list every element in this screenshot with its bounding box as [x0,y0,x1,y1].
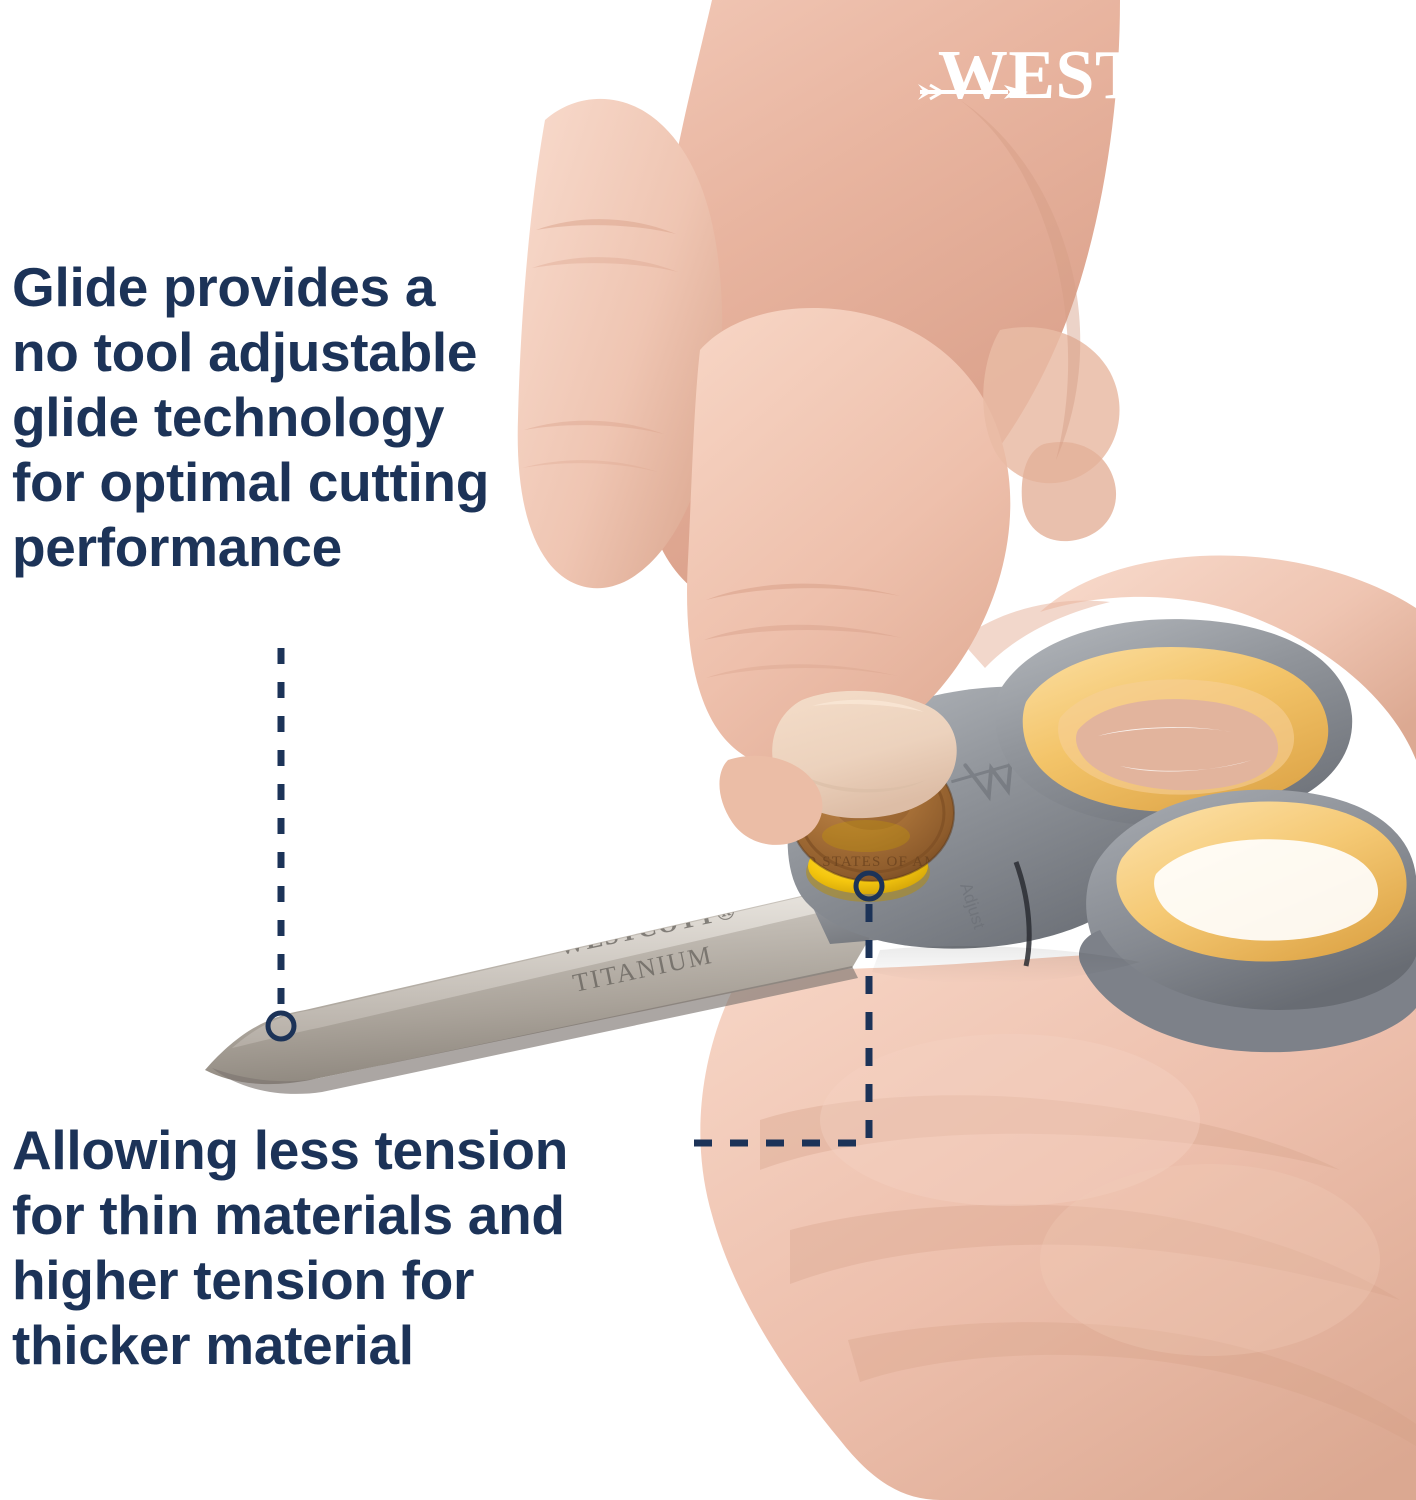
product-marketing-image: WESTCOTT® TITANIUM [0,0,1416,1500]
callout-tension-adjustment-text: Allowing less tension for thin materials… [12,1118,712,1378]
callout-glide-technology-text: Glide provides a no tool adjustable glid… [12,255,592,579]
scissor-handle-lower [1079,790,1416,1053]
